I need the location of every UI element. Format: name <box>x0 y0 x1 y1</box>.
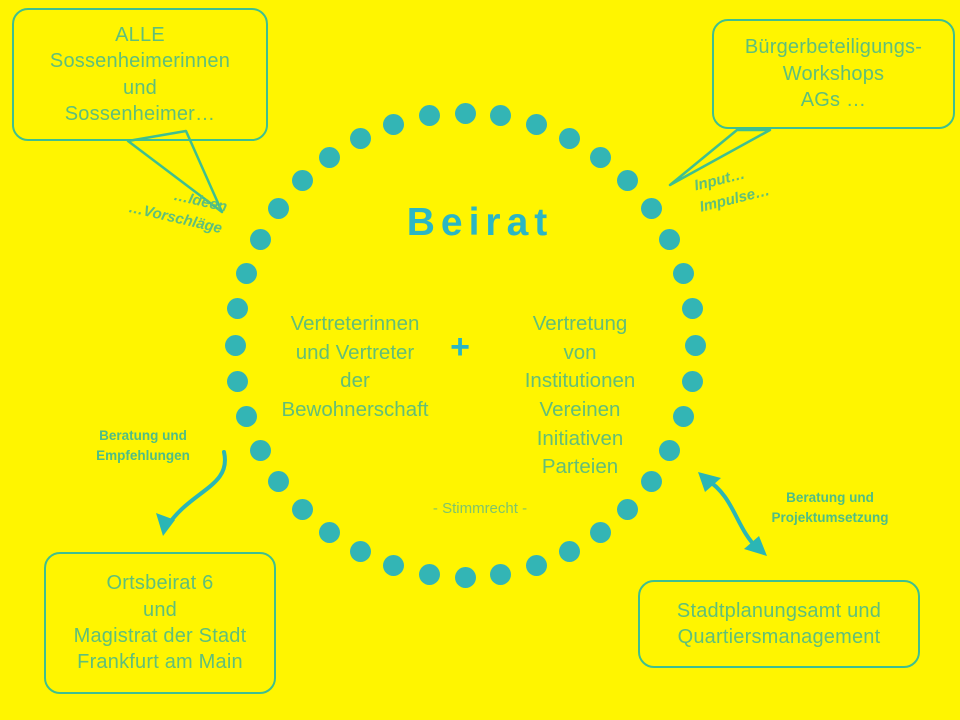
callout-buergerbeteiligung[interactable]: Bürgerbeteiligungs- Workshops AGs … <box>712 19 955 129</box>
label-beratung-empfehlungen: Beratung und Empfehlungen <box>63 426 223 466</box>
center-column-right: Vertretung von Institutionen Vereinen In… <box>480 310 680 482</box>
label-beratung-projektumsetzung: Beratung und Projektumsetzung <box>740 488 920 528</box>
center-column-left: Vertreterinnen und Vertreter der Bewohne… <box>252 310 458 425</box>
box-stadtplanungsamt-quartiersmanagement[interactable]: Stadtplanungsamt und Quartiersmanagement <box>638 580 920 668</box>
plus-icon: + <box>440 330 480 364</box>
callout-alle-sossenheimer[interactable]: ALLE Sossenheimerinnen und Sossenheimer… <box>12 8 268 141</box>
diagram-canvas: Beirat Vertreterinnen und Vertreter der … <box>0 0 960 720</box>
box-ortsbeirat-magistrat[interactable]: Ortsbeirat 6 und Magistrat der Stadt Fra… <box>44 552 276 694</box>
